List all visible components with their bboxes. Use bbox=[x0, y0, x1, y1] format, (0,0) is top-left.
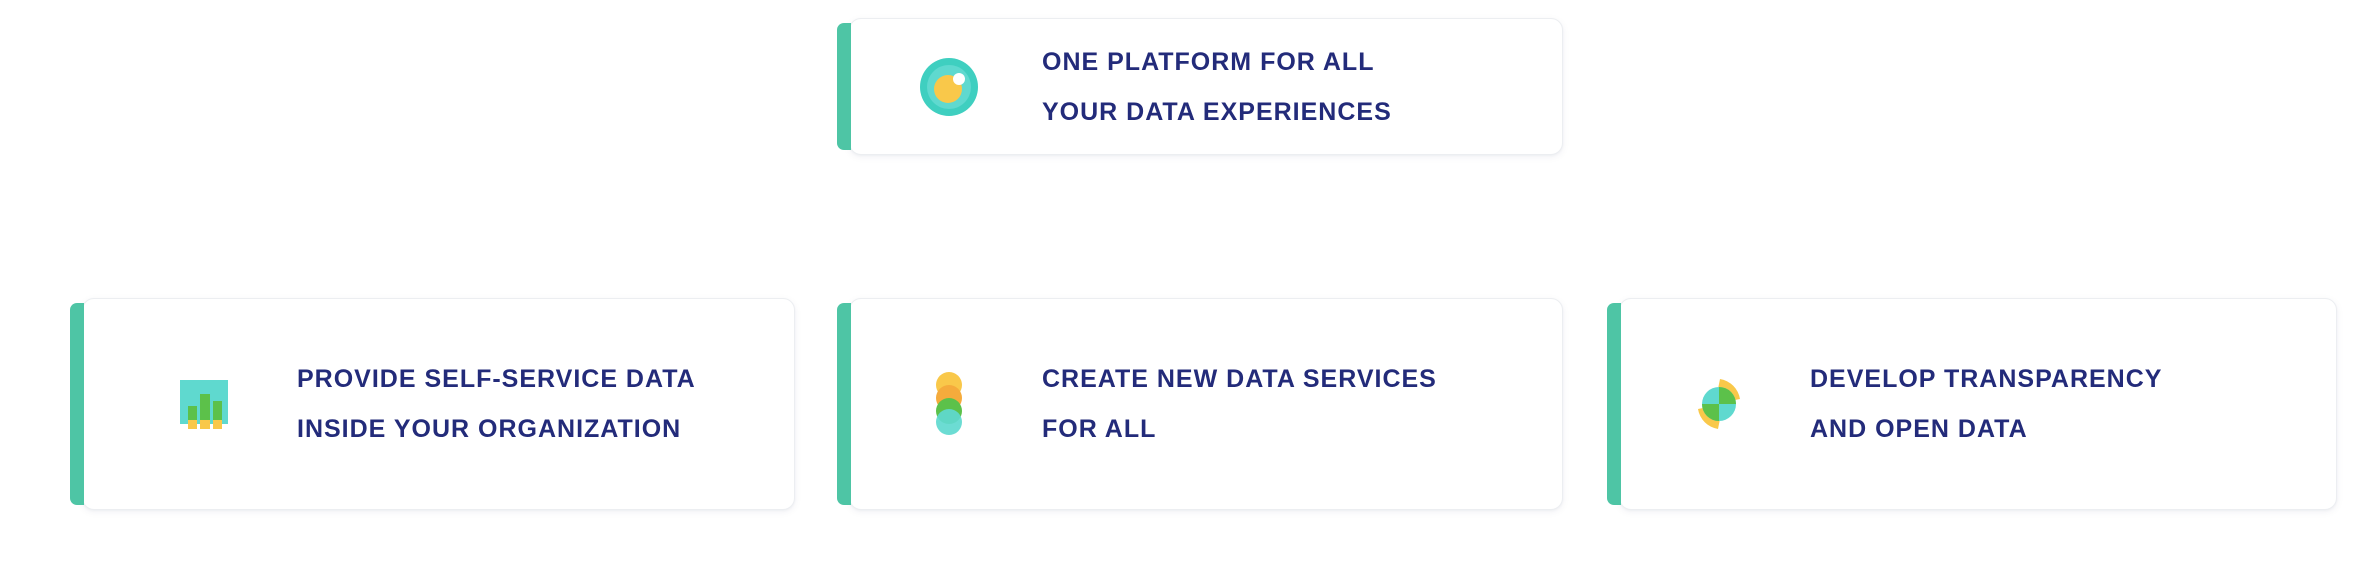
stacked-circles-icon bbox=[916, 371, 982, 437]
card-one-platform[interactable]: ONE PLATFORM FOR ALL YOUR DATA EXPERIENC… bbox=[849, 18, 1563, 155]
card-provide-self-service-data[interactable]: PROVIDE SELF-SERVICE DATA INSIDE YOUR OR… bbox=[82, 298, 795, 510]
concentric-circles-icon bbox=[916, 54, 982, 120]
promo-card-grid: ONE PLATFORM FOR ALL YOUR DATA EXPERIENC… bbox=[0, 0, 2372, 568]
card-title: ONE PLATFORM FOR ALL YOUR DATA EXPERIENC… bbox=[1042, 37, 1392, 137]
card-title-line-2: YOUR DATA EXPERIENCES bbox=[1042, 87, 1392, 137]
card-accent-bar bbox=[70, 303, 84, 505]
card-title: CREATE NEW DATA SERVICES FOR ALL bbox=[1042, 354, 1437, 454]
pinwheel-icon bbox=[1686, 371, 1752, 437]
card-accent-bar bbox=[1607, 303, 1621, 505]
card-accent-bar bbox=[837, 23, 851, 150]
card-title-line-1: DEVELOP TRANSPARENCY bbox=[1810, 354, 2162, 404]
card-create-new-data-services[interactable]: CREATE NEW DATA SERVICES FOR ALL bbox=[849, 298, 1563, 510]
card-title-line-1: ONE PLATFORM FOR ALL bbox=[1042, 37, 1392, 87]
card-title-line-1: CREATE NEW DATA SERVICES bbox=[1042, 354, 1437, 404]
card-title-line-1: PROVIDE SELF-SERVICE DATA bbox=[297, 354, 696, 404]
card-title-line-2: INSIDE YOUR ORGANIZATION bbox=[297, 404, 696, 454]
card-develop-transparency[interactable]: DEVELOP TRANSPARENCY AND OPEN DATA bbox=[1619, 298, 2337, 510]
card-title-line-2: FOR ALL bbox=[1042, 404, 1437, 454]
card-title: DEVELOP TRANSPARENCY AND OPEN DATA bbox=[1810, 354, 2162, 454]
bar-chart-icon bbox=[171, 371, 237, 437]
card-title: PROVIDE SELF-SERVICE DATA INSIDE YOUR OR… bbox=[297, 354, 696, 454]
card-title-line-2: AND OPEN DATA bbox=[1810, 404, 2162, 454]
card-accent-bar bbox=[837, 303, 851, 505]
